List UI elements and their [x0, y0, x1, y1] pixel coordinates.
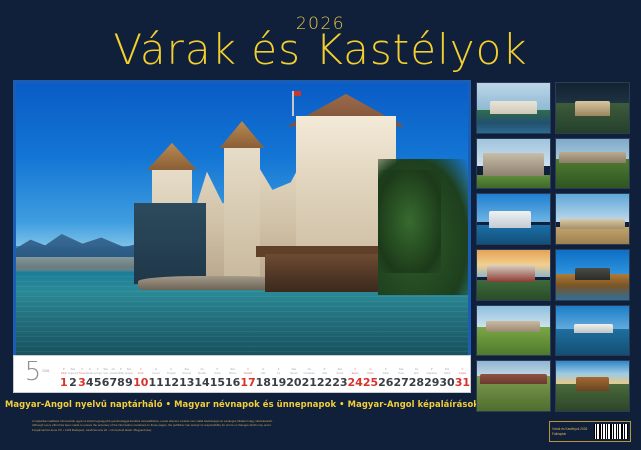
- calendar-day[interactable]: KPongrác12: [164, 368, 179, 389]
- calendar-day[interactable]: HOrbán25: [363, 368, 378, 389]
- name-day: Júlia: [317, 372, 332, 375]
- name-day: Erik: [256, 372, 271, 375]
- day-of-week: Szo: [332, 368, 347, 371]
- month-year-sub: 2026: [42, 369, 49, 373]
- poster-header: 2026 Várak és Kastélyok: [0, 0, 641, 78]
- thumb-building: [576, 377, 608, 391]
- day-number: 26: [378, 377, 393, 389]
- day-of-week: Sze: [179, 368, 194, 371]
- day-number: 4: [86, 377, 94, 389]
- calendar-day[interactable]: HErik18: [256, 368, 271, 389]
- calendar-day[interactable]: VPaszkál17: [240, 368, 255, 389]
- photo-boathouse: [265, 254, 383, 292]
- day-number: 9: [125, 377, 133, 389]
- name-day: Eszter: [348, 372, 363, 375]
- calendar-day[interactable]: CsGizella7: [109, 368, 117, 389]
- calendar-day[interactable]: KIvó19: [271, 368, 286, 389]
- day-of-week: Szo: [68, 368, 79, 371]
- calendar-day[interactable]: CsKonstantin21: [302, 368, 317, 389]
- name-day: Orbán: [363, 372, 378, 375]
- day-of-week: V: [133, 368, 148, 371]
- name-day: Mihály: [117, 372, 125, 375]
- legal-block: A naptárban található információk ugyan …: [32, 419, 432, 432]
- calendar-strip: 5 2026 PFülöp1SzoZsigmond2VTímea3HMónika…: [13, 355, 471, 393]
- day-number: 14: [194, 377, 209, 389]
- calendar-day[interactable]: SzoMózes16: [225, 368, 240, 389]
- name-day: Gergely: [125, 372, 133, 375]
- day-number: 22: [317, 377, 332, 389]
- calendar-day[interactable]: CsBonifác14: [194, 368, 209, 389]
- calendar-poster: 2026 Várak és Kastélyok 5: [0, 0, 641, 450]
- day-number: 7: [109, 377, 117, 389]
- day-of-week: P: [210, 368, 225, 371]
- name-day: Gizella: [109, 372, 117, 375]
- calendar-day[interactable]: VAngéla31: [455, 368, 470, 389]
- calendar-day[interactable]: PZsófia15: [210, 368, 225, 389]
- name-day: Paszkál: [240, 372, 255, 375]
- calendar-day[interactable]: PJúlia22: [317, 368, 332, 389]
- day-of-week: Cs: [302, 368, 317, 371]
- calendar-day[interactable]: HFerenc11: [148, 368, 163, 389]
- name-day: Hella: [393, 372, 408, 375]
- name-day: Bonifác: [194, 372, 209, 375]
- day-of-week: K: [94, 368, 102, 371]
- day-number: 23: [332, 377, 347, 389]
- day-of-week: Sze: [102, 368, 110, 371]
- calendar-days-row: PFülöp1SzoZsigmond2VTímea3HMónika4KGyörg…: [60, 356, 470, 392]
- day-of-week: Sze: [393, 368, 408, 371]
- day-of-week: P: [117, 368, 125, 371]
- day-of-week: P: [424, 368, 439, 371]
- name-day: Zsófia: [210, 372, 225, 375]
- day-number: 15: [210, 377, 225, 389]
- day-of-week: Cs: [194, 368, 209, 371]
- thumb-manor-house-lawn[interactable]: [476, 305, 551, 357]
- day-number: 12: [164, 377, 179, 389]
- barcode-box: Várak és Kastélyok 2026 Falinaptár: [549, 421, 631, 442]
- thumb-building: [489, 211, 531, 228]
- photo-turret-b: [224, 148, 260, 284]
- day-of-week: V: [78, 368, 86, 371]
- name-day: Mózes: [225, 372, 240, 375]
- name-day: Fülöp: [60, 372, 68, 375]
- name-day: Ferenc: [148, 372, 163, 375]
- calendar-day[interactable]: SzoZsigmond2: [68, 368, 79, 389]
- month-indicator: 5 2026: [14, 359, 60, 389]
- thumb-ground: [556, 159, 629, 189]
- name-day: Pongrác: [164, 372, 179, 375]
- calendar-day[interactable]: PMagdolna29: [424, 368, 439, 389]
- thumb-red-brick-palace-path[interactable]: [476, 360, 551, 412]
- day-of-week: V: [348, 368, 363, 371]
- day-of-week: P: [60, 368, 68, 371]
- thumb-island-ruin-castle[interactable]: [555, 249, 630, 301]
- day-of-week: K: [164, 368, 179, 371]
- day-number: 11: [148, 377, 163, 389]
- name-day: Zsigmond: [68, 372, 79, 375]
- day-number: 19: [271, 377, 286, 389]
- day-of-week: H: [148, 368, 163, 371]
- thumb-building: [560, 219, 624, 229]
- name-day: Magdolna: [424, 372, 439, 375]
- day-of-week: K: [378, 368, 393, 371]
- day-number: 20: [286, 377, 301, 389]
- calendar-day[interactable]: VEszter24: [348, 368, 363, 389]
- day-of-week: H: [363, 368, 378, 371]
- thumb-building: [575, 101, 610, 116]
- calendar-day[interactable]: SzeHella27: [393, 368, 408, 389]
- day-of-week: H: [86, 368, 94, 371]
- name-day: Bernát: [286, 372, 301, 375]
- thumb-hilltop-castle-aerial[interactable]: [555, 82, 630, 134]
- day-number: 24: [348, 377, 363, 389]
- thumb-building: [574, 324, 613, 334]
- thumb-building: [490, 101, 537, 114]
- day-number: 5: [94, 377, 102, 389]
- day-number: 17: [240, 377, 255, 389]
- name-day: Tímea: [78, 372, 86, 375]
- day-number: 27: [393, 377, 408, 389]
- thumb-sea-fortress[interactable]: [555, 305, 630, 357]
- thumb-building: [575, 268, 610, 280]
- thumb-sky: [556, 83, 629, 103]
- day-of-week: P: [317, 368, 332, 371]
- thumb-grand-palace-courtyard[interactable]: [555, 193, 630, 245]
- thumb-building: [486, 321, 540, 332]
- calendar-day[interactable]: KGyörgyi5: [94, 368, 102, 389]
- day-of-week: Cs: [409, 368, 424, 371]
- day-of-week: Sze: [286, 368, 301, 371]
- name-day: Emil: [409, 372, 424, 375]
- thumb-palace-gardens[interactable]: [555, 138, 630, 190]
- thumb-twin-tower-castle[interactable]: [476, 138, 551, 190]
- thumb-cliff-castle-sunset[interactable]: [555, 360, 630, 412]
- name-day: Ivett: [102, 372, 110, 375]
- day-number: 30: [439, 377, 454, 389]
- day-of-week: K: [271, 368, 286, 371]
- main-photo: [16, 83, 468, 355]
- day-number: 13: [179, 377, 194, 389]
- day-number: 3: [78, 377, 86, 389]
- thumb-building: [483, 153, 544, 177]
- calendar-day[interactable]: VÁrmin10: [133, 368, 148, 389]
- day-number: 28: [409, 377, 424, 389]
- day-of-week: Cs: [109, 368, 117, 371]
- thumb-building: [487, 265, 535, 282]
- name-day: Ivó: [271, 372, 286, 375]
- calendar-day[interactable]: VTímea3: [78, 368, 86, 389]
- calendar-day[interactable]: PFülöp1: [60, 368, 68, 389]
- day-number: 31: [455, 377, 470, 389]
- name-day: Angéla: [455, 372, 470, 375]
- calendar-day[interactable]: CsEmil28: [409, 368, 424, 389]
- calendar-day[interactable]: KFülöp26: [378, 368, 393, 389]
- day-number: 8: [117, 377, 125, 389]
- name-day: Györgyi: [94, 372, 102, 375]
- thumb-ground: [477, 280, 550, 300]
- thumb-sky: [556, 194, 629, 221]
- thumb-building: [559, 152, 626, 163]
- calendar-day[interactable]: HMónika4: [86, 368, 94, 389]
- thumb-ground: [556, 227, 629, 244]
- photo-flag: [292, 91, 294, 115]
- photo-trees-secondary: [378, 170, 441, 273]
- day-number: 18: [256, 377, 271, 389]
- name-day: Dezső: [332, 372, 347, 375]
- day-number: 1: [60, 377, 68, 389]
- name-day: Mónika: [86, 372, 94, 375]
- name-day: Fülöp: [378, 372, 393, 375]
- thumbnail-grid: [476, 82, 630, 412]
- day-number: 16: [225, 377, 240, 389]
- day-number: 29: [424, 377, 439, 389]
- name-day: Ármin: [133, 372, 148, 375]
- calendar-day[interactable]: PMihály8: [117, 368, 125, 389]
- name-day: Konstantin: [302, 372, 317, 375]
- name-day: Szervác: [179, 372, 194, 375]
- barcode-icon: [594, 424, 628, 439]
- calendar-day[interactable]: SzoGergely9: [125, 368, 133, 389]
- legal-line-publisher: Forgalmazza Home Kft. • 1163 Budapest, L…: [32, 428, 432, 432]
- day-of-week: V: [240, 368, 255, 371]
- feature-tagline: Magyar-Angol nyelvű naptárháló • Magyar …: [0, 399, 484, 409]
- day-of-week: Szo: [125, 368, 133, 371]
- calendar-day[interactable]: SzeIvett6: [102, 368, 110, 389]
- page-title: Várak és Kastélyok: [0, 26, 641, 74]
- calendar-day[interactable]: SzeBernát20: [286, 368, 301, 389]
- day-number: 10: [133, 377, 148, 389]
- thumb-chateau-lake-reflection[interactable]: [476, 82, 551, 134]
- day-of-week: V: [455, 368, 470, 371]
- barcode-label: Várak és Kastélyok 2026 Falinaptár: [552, 427, 591, 436]
- day-number: 2: [68, 377, 79, 389]
- thumb-building: [480, 374, 547, 384]
- day-of-week: H: [256, 368, 271, 371]
- day-of-week: Szo: [225, 368, 240, 371]
- month-number: 5: [25, 359, 42, 385]
- day-number: 21: [302, 377, 317, 389]
- day-number: 6: [102, 377, 110, 389]
- calendar-day[interactable]: SzoJanka30: [439, 368, 454, 389]
- thumb-white-waterside-castle[interactable]: [476, 193, 551, 245]
- day-number: 25: [363, 377, 378, 389]
- calendar-day[interactable]: SzeSzervác13: [179, 368, 194, 389]
- photo-shadow-wall: [134, 203, 206, 285]
- day-of-week: Szo: [439, 368, 454, 371]
- name-day: Janka: [439, 372, 454, 375]
- thumb-ground: [477, 175, 550, 188]
- main-photo-frame: [13, 80, 471, 355]
- thumb-japanese-castle-sunset[interactable]: [476, 249, 551, 301]
- calendar-day[interactable]: SzoDezső23: [332, 368, 347, 389]
